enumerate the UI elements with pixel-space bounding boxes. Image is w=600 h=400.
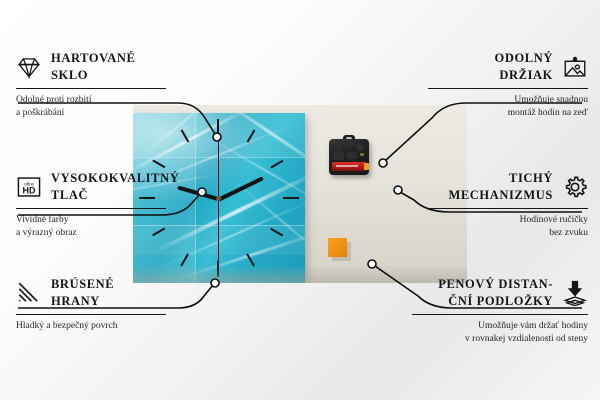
divider <box>428 208 588 209</box>
feature-desc-2: a výrazný obraz <box>16 227 166 240</box>
feature-title-2: TLAČ <box>51 187 179 204</box>
divider <box>16 314 166 315</box>
feature-desc-2: a poškrábání <box>16 107 166 120</box>
divider <box>428 88 588 89</box>
download-stack-icon <box>562 280 588 306</box>
gear-icon <box>562 174 588 200</box>
feature-desc: Umožňuje vám držať hodiny <box>412 320 588 333</box>
picture-frame-icon <box>562 54 588 80</box>
clock-hub <box>216 196 221 201</box>
divider <box>412 314 588 315</box>
feature-title-2: ČNÍ PODLOŽKY <box>438 293 553 310</box>
svg-text:HD: HD <box>23 185 36 195</box>
beveled-edge-icon <box>16 280 42 306</box>
feature-foam: PENOVÝ DISTAN- ČNÍ PODLOŽKY Umožňuje vám… <box>412 276 588 347</box>
clock-hand-minute <box>217 176 263 201</box>
infographic-canvas: HARTOVANÉ SKLO Odolné proti rozbití a po… <box>0 0 600 400</box>
clock-mechanism <box>329 135 369 175</box>
foam-spacer-pad <box>328 238 347 257</box>
feature-desc-2: montáž hodin na zeď <box>428 107 588 120</box>
feature-mechanism: TICHÝ MECHANIZMUS Hodinové ručičky bez z… <box>428 170 588 241</box>
divider <box>16 208 166 209</box>
diamond-icon <box>16 54 42 80</box>
feature-title-2: SKLO <box>51 67 135 84</box>
feature-title: VYSOKOKVALITNÝ <box>51 170 179 187</box>
feature-desc-2: v rovnakej vzdialenosti od steny <box>412 333 588 346</box>
feature-title-2: MECHANIZMUS <box>448 187 553 204</box>
feature-title-2: DRŽIAK <box>495 67 553 84</box>
feature-glass: HARTOVANÉ SKLO Odolné proti rozbití a po… <box>16 50 166 121</box>
feature-title: BRÚSENÉ <box>51 276 114 293</box>
feature-desc-2: bez zvuku <box>428 227 588 240</box>
feature-title: PENOVÝ DISTAN- <box>438 276 553 293</box>
feature-title: HARTOVANÉ <box>51 50 135 67</box>
feature-desc: Vividné farby <box>16 214 166 227</box>
divider <box>16 88 166 89</box>
feature-desc: Umožňuje snadnou <box>428 94 588 107</box>
feature-title-2: HRANY <box>51 293 114 310</box>
product-photo <box>133 105 467 283</box>
feature-desc: Hladký a bezpečný povrch <box>16 320 166 333</box>
feature-print: ultra HD VYSOKOKVALITNÝ TLAČ Vividné far… <box>16 170 166 241</box>
feature-edges: BRÚSENÉ HRANY Hladký a bezpečný povrch <box>16 276 166 333</box>
feature-desc: Hodinové ručičky <box>428 214 588 227</box>
feature-title: TICHÝ <box>448 170 553 187</box>
clock-hand-second <box>218 121 219 261</box>
ultra-hd-icon: ultra HD <box>16 174 42 200</box>
feature-desc: Odolné proti rozbití <box>16 94 166 107</box>
feature-holder: ODOLNÝ DRŽIAK Umožňuje snadnou montáž ho… <box>428 50 588 121</box>
feature-title: ODOLNÝ <box>495 50 553 67</box>
